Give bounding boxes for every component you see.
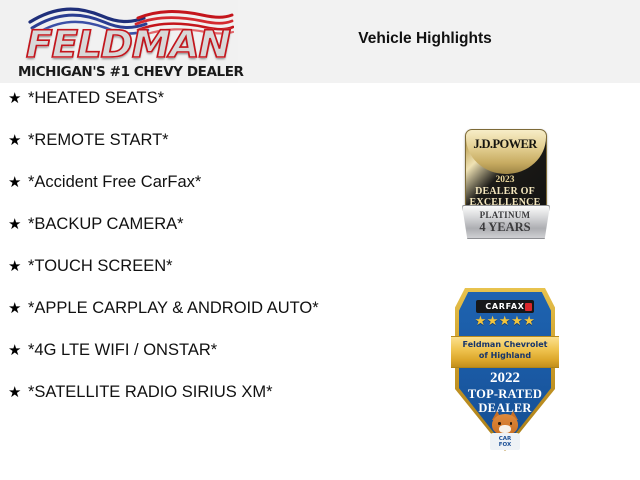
- list-item-label: *TOUCH SCREEN*: [28, 256, 338, 277]
- carfax-star-rating: ★★★★★: [455, 314, 555, 329]
- star-icon: ★: [8, 88, 28, 109]
- star-icon: ★: [8, 298, 28, 319]
- vehicle-highlights-list: ★ *HEATED SEATS* ★ *REMOTE START* ★ *Acc…: [8, 88, 338, 424]
- carfax-line1: TOP-RATED: [455, 387, 555, 402]
- list-item: ★ *TOUCH SCREEN*: [8, 256, 338, 277]
- fox-shirt-line2: FOX: [489, 442, 521, 448]
- list-item-label: *Accident Free CarFax*: [28, 172, 338, 193]
- star-icon: ★: [8, 172, 28, 193]
- dealer-logo-tagline: MICHIGAN'S #1 CHEVY DEALER: [18, 64, 238, 80]
- star-icon: ★: [8, 382, 28, 403]
- carfax-wordmark: CARFAX: [476, 300, 534, 313]
- jd-power-ribbon-line2: 4 YEARS: [462, 220, 548, 235]
- list-item: ★ *BACKUP CAMERA*: [8, 214, 338, 235]
- star-icon: ★: [8, 256, 28, 277]
- page-title: Vehicle Highlights: [270, 30, 580, 48]
- jd-power-line1: DEALER OF: [462, 186, 548, 197]
- jd-power-ribbon-line1: PLATINUM: [462, 210, 548, 220]
- car-fox-icon: CAR FOX: [489, 414, 521, 450]
- fox-snout: [499, 425, 511, 433]
- fox-eye-right: [510, 422, 513, 425]
- carfax-dealer-name: Feldman Chevrolet of Highland: [451, 339, 559, 361]
- list-item-label: *REMOTE START*: [28, 130, 338, 151]
- list-item-label: *4G LTE WIFI / ONSTAR*: [28, 340, 338, 361]
- jd-power-year: 2023: [462, 175, 548, 185]
- list-item: ★ *HEATED SEATS*: [8, 88, 338, 109]
- star-icon: ★: [8, 214, 28, 235]
- carfax-badge: CARFAX ★★★★★ Feldman Chevrolet of Highla…: [455, 288, 555, 451]
- list-item: ★ *SATELLITE RADIO SIRIUS XM*: [8, 382, 338, 403]
- list-item: ★ *REMOTE START*: [8, 130, 338, 151]
- carfax-dealer-line1: Feldman Chevrolet: [451, 339, 559, 350]
- carfax-wordmark-accent-icon: [525, 303, 532, 311]
- fox-eye-left: [498, 422, 501, 425]
- dealer-logo-wordmark: FELDMAN: [13, 26, 244, 64]
- carfax-dealer-line2: of Highland: [451, 350, 559, 361]
- star-icon: ★: [8, 340, 28, 361]
- list-item: ★ *APPLE CARPLAY & ANDROID AUTO*: [8, 298, 338, 319]
- jd-power-brand: J.D.POWER: [462, 137, 548, 152]
- star-icon: ★: [8, 130, 28, 151]
- list-item: ★ *4G LTE WIFI / ONSTAR*: [8, 340, 338, 361]
- carfax-wordmark-text: CARFAX: [485, 302, 524, 311]
- dealer-logo[interactable]: FELDMAN MICHIGAN'S #1 CHEVY DEALER: [18, 4, 238, 82]
- list-item: ★ *Accident Free CarFax*: [8, 172, 338, 193]
- list-item-label: *HEATED SEATS*: [28, 88, 338, 109]
- list-item-label: *SATELLITE RADIO SIRIUS XM*: [28, 382, 338, 403]
- carfax-year: 2022: [455, 370, 555, 387]
- vehicle-highlights-page: FELDMAN MICHIGAN'S #1 CHEVY DEALER Vehic…: [0, 0, 640, 480]
- list-item-label: *BACKUP CAMERA*: [28, 214, 338, 235]
- jd-power-badge: J.D.POWER 2023 DEALER OF EXCELLENCE PLAT…: [462, 129, 548, 237]
- fox-shirt-text: CAR FOX: [489, 436, 521, 448]
- list-item-label: *APPLE CARPLAY & ANDROID AUTO*: [28, 298, 338, 319]
